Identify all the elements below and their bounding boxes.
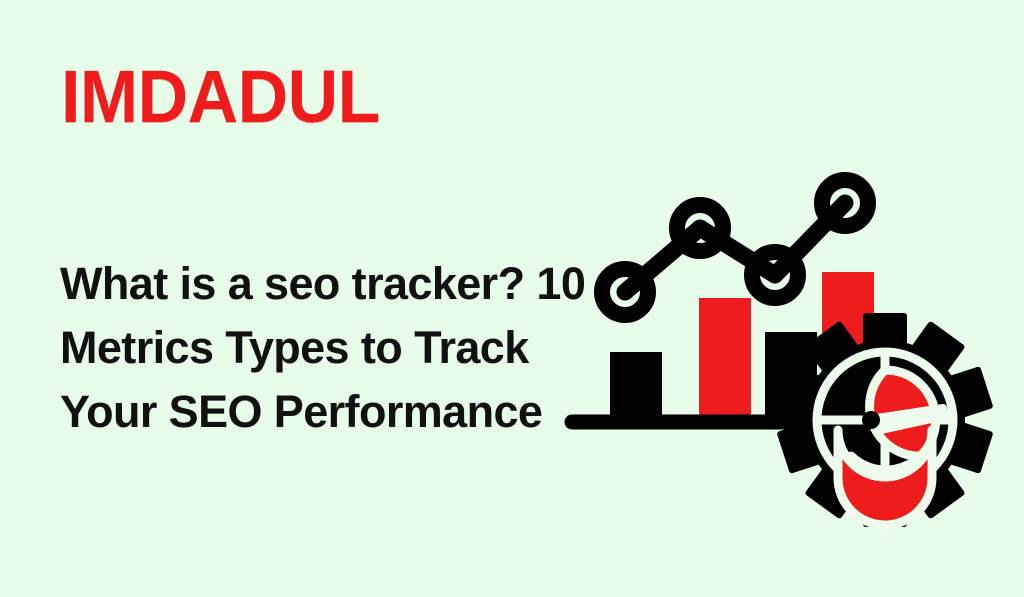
trend-line-path [625, 203, 845, 292]
bar-2 [699, 298, 751, 415]
bar-1 [610, 352, 662, 415]
gear-speedometer-icon [776, 313, 993, 527]
seo-analytics-svg [560, 160, 1000, 550]
speedometer-hub [862, 411, 880, 429]
seo-analytics-illustration [560, 160, 1000, 550]
banner-canvas: IMDADUL What is a seo tracker? 10 Metric… [0, 0, 1024, 597]
page-title: What is a seo tracker? 10 Metrics Types … [60, 252, 600, 444]
trend-line-group [625, 203, 845, 292]
brand-wordmark: IMDADUL [61, 56, 380, 137]
